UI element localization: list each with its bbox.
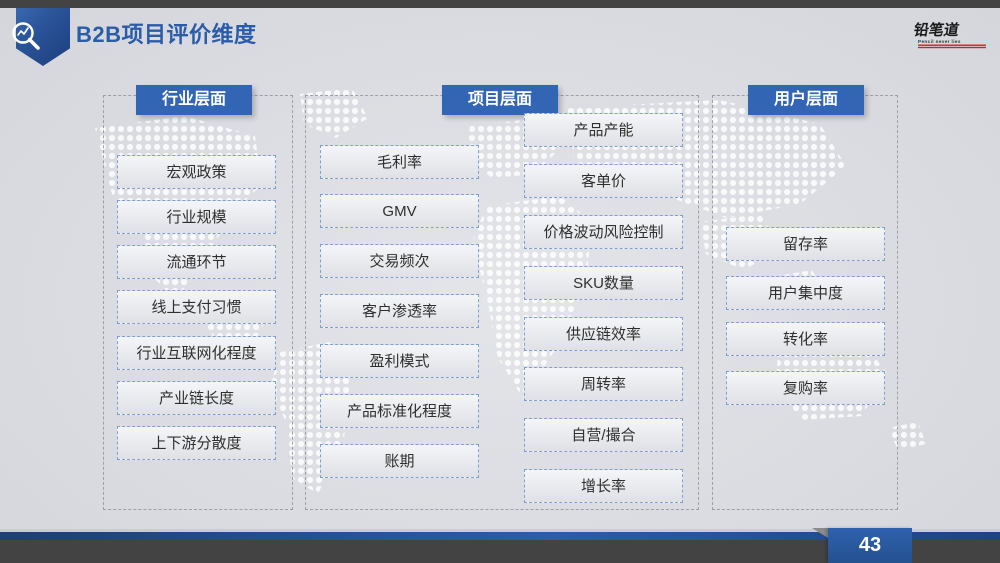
- item-project-right-0[interactable]: 产品产能: [524, 113, 683, 147]
- item-industry-0[interactable]: 宏观政策: [117, 155, 276, 189]
- item-project-left-2[interactable]: 交易频次: [320, 244, 479, 278]
- item-user-3[interactable]: 复购率: [726, 371, 885, 405]
- svg-text:铅笔道: 铅笔道: [912, 21, 961, 39]
- item-project-right-1[interactable]: 客单价: [524, 164, 683, 198]
- item-project-right-2[interactable]: 价格波动风险控制: [524, 215, 683, 249]
- item-user-0[interactable]: 留存率: [726, 227, 885, 261]
- item-project-right-5[interactable]: 周转率: [524, 367, 683, 401]
- item-industry-6[interactable]: 上下游分散度: [117, 426, 276, 460]
- tab-industry[interactable]: 行业层面: [136, 85, 252, 115]
- tab-project[interactable]: 项目层面: [442, 85, 558, 115]
- item-project-left-1[interactable]: GMV: [320, 194, 479, 228]
- item-user-1[interactable]: 用户集中度: [726, 276, 885, 310]
- page-title: B2B项目评价维度: [76, 20, 257, 50]
- item-industry-4[interactable]: 行业互联网化程度: [117, 336, 276, 370]
- item-industry-2[interactable]: 流通环节: [117, 245, 276, 279]
- slide-header: B2B项目评价维度 铅笔道 Pencil never lies: [0, 8, 1000, 70]
- magnifier-chart-icon: [10, 20, 44, 54]
- page-number: 43: [828, 528, 912, 563]
- item-project-left-3[interactable]: 客户渗透率: [320, 294, 479, 328]
- item-user-2[interactable]: 转化率: [726, 322, 885, 356]
- item-industry-3[interactable]: 线上支付习惯: [117, 290, 276, 324]
- item-project-right-7[interactable]: 增长率: [524, 469, 683, 503]
- item-industry-1[interactable]: 行业规模: [117, 200, 276, 234]
- item-project-left-4[interactable]: 盈利模式: [320, 344, 479, 378]
- item-project-right-4[interactable]: 供应链效率: [524, 317, 683, 351]
- item-project-left-0[interactable]: 毛利率: [320, 145, 479, 179]
- item-industry-5[interactable]: 产业链长度: [117, 381, 276, 415]
- svg-text:Pencil never lies: Pencil never lies: [918, 39, 961, 44]
- tab-user[interactable]: 用户层面: [748, 85, 864, 115]
- item-project-right-6[interactable]: 自营/撮合: [524, 418, 683, 452]
- item-project-right-3[interactable]: SKU数量: [524, 266, 683, 300]
- brand-logo: 铅笔道 Pencil never lies: [906, 18, 994, 50]
- item-project-left-6[interactable]: 账期: [320, 444, 479, 478]
- item-project-left-5[interactable]: 产品标准化程度: [320, 394, 479, 428]
- slide-canvas: B2B项目评价维度 铅笔道 Pencil never lies 行业层面 项目层…: [0, 8, 1000, 540]
